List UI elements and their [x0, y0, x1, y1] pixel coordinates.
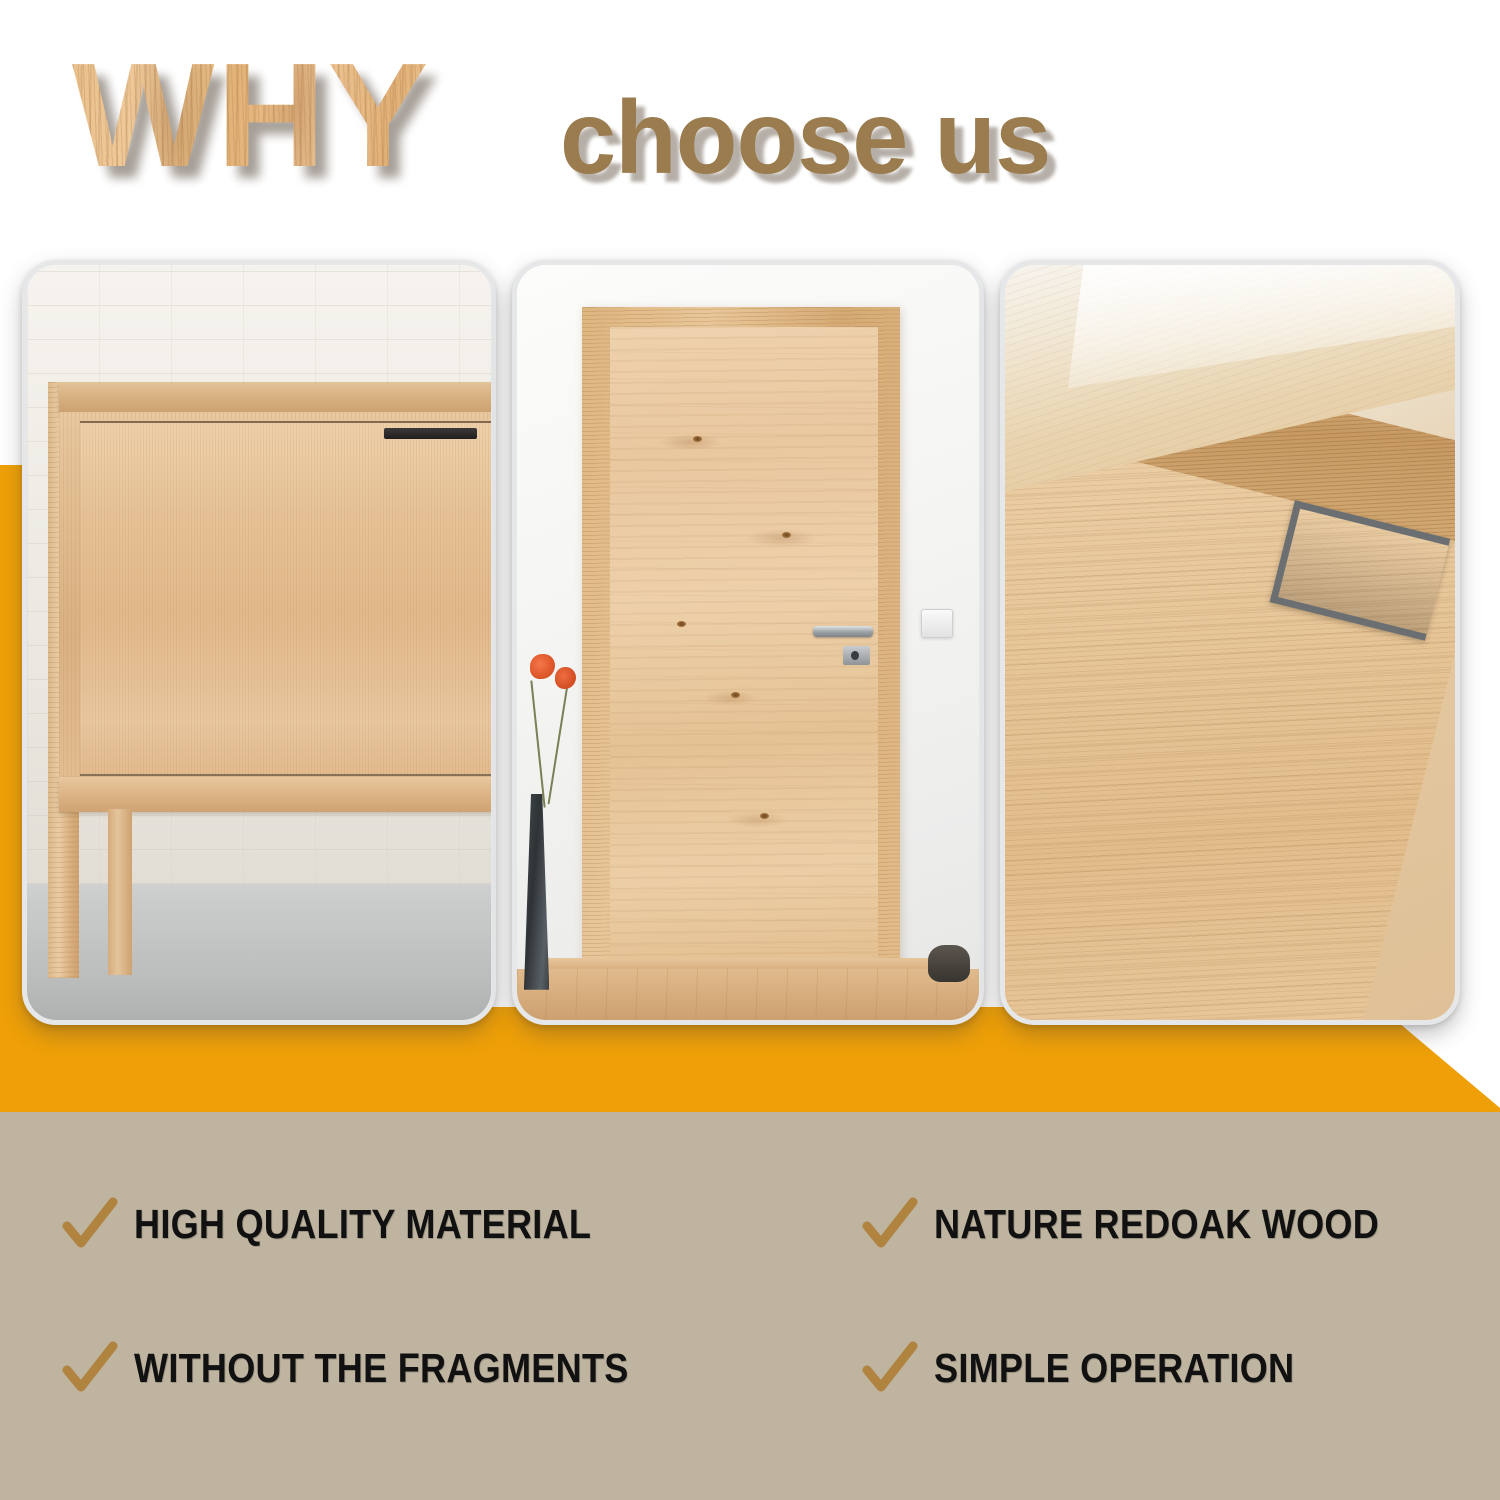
- poppy-flower-icon: [555, 667, 576, 689]
- gallery-card-oak-sideboard-cabinet[interactable]: [22, 260, 496, 1025]
- product-photo-door: [517, 265, 979, 1020]
- gallery-card-oak-interior-door[interactable]: [512, 260, 984, 1025]
- cabinet-top-edge: [59, 382, 491, 414]
- door-lever-handle: [813, 626, 873, 637]
- check-icon: [862, 1196, 918, 1252]
- feature-item-high-quality-material: HIGH QUALITY MATERIAL: [62, 1196, 654, 1252]
- infographic-root: WHY choose us: [0, 0, 1500, 1500]
- check-icon: [862, 1340, 918, 1396]
- feature-item-without-the-fragments: WITHOUT THE FRAGMENTS: [62, 1340, 696, 1396]
- wood-knot-icon: [693, 436, 702, 442]
- photo-gallery: [0, 0, 1500, 1120]
- shoe-object: [928, 945, 970, 983]
- feature-item-nature-redoak-wood: NATURE REDOAK WOOD: [862, 1196, 1440, 1252]
- cabinet-door-panel: [80, 421, 491, 776]
- features-grid: HIGH QUALITY MATERIAL NATURE REDOAK WOOD…: [0, 1112, 1500, 1500]
- wood-knot-icon: [782, 532, 791, 538]
- product-photo-sideboard: [27, 265, 491, 1020]
- gallery-card-oak-drawer-closeup[interactable]: [1000, 260, 1460, 1025]
- feature-label: NATURE REDOAK WOOD: [934, 1201, 1379, 1248]
- product-photo-drawer: [1005, 265, 1455, 1020]
- door-keyhole-icon: [851, 651, 858, 660]
- check-icon: [62, 1196, 118, 1252]
- cabinet-bottom-rail: [59, 777, 491, 812]
- feature-label: HIGH QUALITY MATERIAL: [134, 1201, 591, 1248]
- wooden-floor: [517, 969, 979, 1020]
- check-icon: [62, 1340, 118, 1396]
- feature-item-simple-operation: SIMPLE OPERATION: [862, 1340, 1344, 1396]
- wood-knot-icon: [731, 692, 740, 698]
- features-panel: HIGH QUALITY MATERIAL NATURE REDOAK WOOD…: [0, 1112, 1500, 1500]
- light-switch: [921, 609, 953, 638]
- feature-label: SIMPLE OPERATION: [934, 1345, 1294, 1392]
- wood-knot-icon: [760, 813, 769, 819]
- cabinet-middle-leg: [108, 809, 132, 975]
- wood-knot-icon: [677, 621, 686, 627]
- feature-label: WITHOUT THE FRAGMENTS: [134, 1345, 629, 1392]
- concrete-floor: [27, 884, 491, 1020]
- cabinet-bar-handle: [384, 428, 477, 439]
- door-leaf: [610, 327, 878, 967]
